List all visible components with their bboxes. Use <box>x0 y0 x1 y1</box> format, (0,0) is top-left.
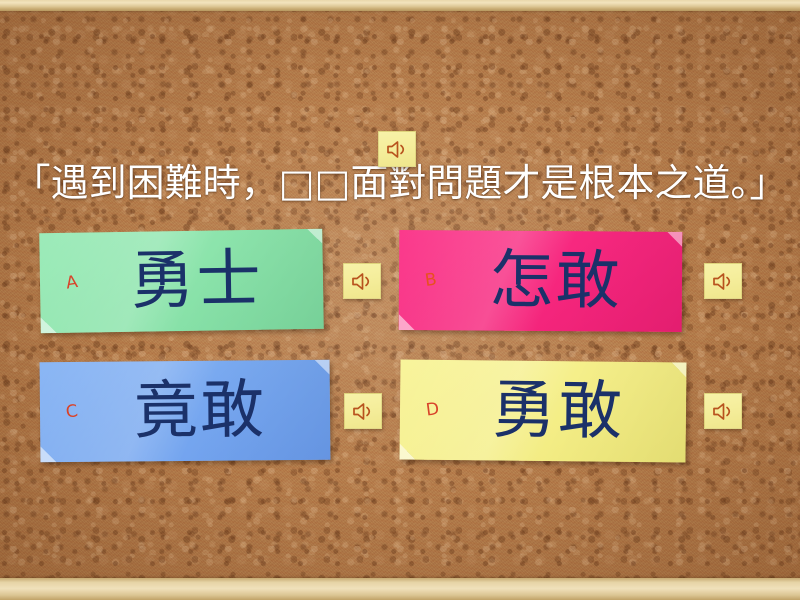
answer-card-b[interactable]: B 怎敢 <box>399 230 683 332</box>
answer-word-a: 勇士 <box>39 243 323 319</box>
answer-card-c[interactable]: C 竟敢 <box>40 360 331 463</box>
answer-slot-d: D 勇敢 <box>400 361 742 461</box>
answer-row-top: A 勇士 B 怎敢 <box>0 226 800 336</box>
answer-row-bottom: C 竟敢 D 勇敢 <box>0 356 800 466</box>
answer-card-a[interactable]: A 勇士 <box>39 229 324 333</box>
answer-slot-c: C 竟敢 <box>40 361 382 461</box>
answer-d-speaker-button[interactable] <box>704 393 742 429</box>
wood-frame-bottom <box>0 578 800 600</box>
speaker-icon[interactable] <box>343 263 381 299</box>
speaker-icon[interactable] <box>704 393 742 429</box>
corkboard-quiz-stage: 「遇到困難時，□□面對問題才是根本之道。」 A 勇士 <box>0 0 800 600</box>
answer-slot-a: A 勇士 <box>40 231 381 331</box>
answer-word-d: 勇敢 <box>400 374 687 449</box>
wood-frame-top <box>0 0 800 11</box>
speaker-icon[interactable] <box>344 393 382 429</box>
answer-card-d[interactable]: D 勇敢 <box>399 360 686 463</box>
answer-c-speaker-button[interactable] <box>344 393 382 429</box>
speaker-icon[interactable] <box>704 263 742 299</box>
question-speaker-button[interactable] <box>378 131 416 167</box>
answer-word-b: 怎敢 <box>399 244 682 318</box>
answer-word-c: 竟敢 <box>40 374 331 449</box>
answer-b-speaker-button[interactable] <box>704 263 742 299</box>
answer-slot-b: B 怎敢 <box>399 231 742 331</box>
speaker-icon[interactable] <box>378 131 416 167</box>
answer-a-speaker-button[interactable] <box>343 263 381 299</box>
